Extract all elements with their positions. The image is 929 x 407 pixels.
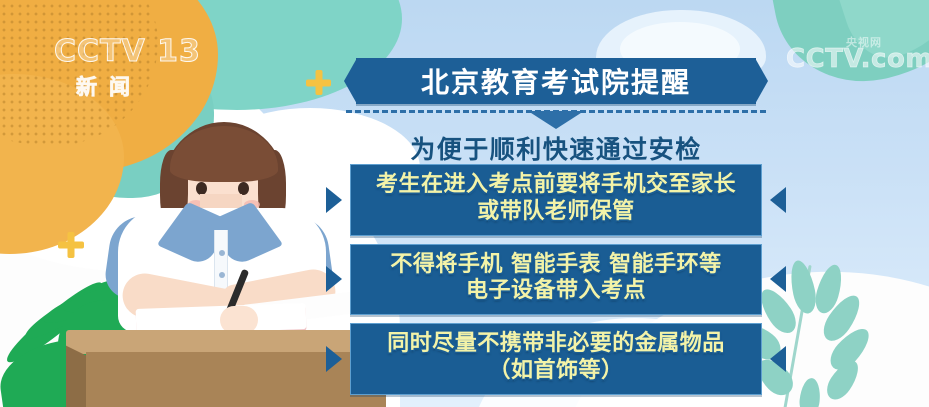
- arrow-right-icon: [326, 187, 342, 213]
- bullet-text-line: 电子设备带入考点: [361, 278, 751, 305]
- infographic-screenshot: CCTV 13 新闻 央视网 CCTV.com 北京教育考试院提醒 为便于顺利快…: [0, 0, 929, 407]
- arrow-right-icon: [326, 266, 342, 292]
- bullet-row: 同时尽量不携带非必要的金属物品 （如首饰等）: [326, 323, 786, 395]
- arrow-left-icon: [770, 346, 786, 372]
- notice-panel: 北京教育考试院提醒 为便于顺利快速通过安检 考生在进入考点前要将手机交至家长 或…: [316, 48, 796, 396]
- bullet-text-line: 不得将手机 智能手表 智能手环等: [361, 252, 751, 279]
- bullet-text-line: 同时尽量不携带非必要的金属物品: [361, 331, 751, 358]
- chevron-down-icon: [528, 111, 584, 129]
- shirt-button: [219, 250, 225, 256]
- arrow-left-icon: [770, 266, 786, 292]
- arrow-right-icon: [326, 346, 342, 372]
- shirt-placket: [214, 230, 228, 292]
- bullet-box: 考生在进入考点前要将手机交至家长 或带队老师保管: [350, 164, 762, 236]
- bullet-list: 考生在进入考点前要将手机交至家长 或带队老师保管 不得将手机 智能手表 智能手环…: [326, 164, 786, 403]
- title-banner: 北京教育考试院提醒: [356, 58, 756, 104]
- bullet-text-line: （如首饰等）: [361, 358, 751, 385]
- page-title: 北京教育考试院提醒: [421, 61, 691, 101]
- title-flag-right-icon: [755, 58, 768, 104]
- bullet-text-line: 或带队老师保管: [361, 199, 751, 226]
- bullet-box: 同时尽量不携带非必要的金属物品 （如首饰等）: [350, 323, 762, 395]
- page-subtitle: 为便于顺利快速通过安检: [316, 130, 796, 166]
- leaf-icon: [798, 377, 822, 407]
- plus-decoration-icon: [58, 232, 84, 258]
- bullet-box: 不得将手机 智能手表 智能手环等 电子设备带入考点: [350, 244, 762, 316]
- bullet-row: 考生在进入考点前要将手机交至家长 或带队老师保管: [326, 164, 786, 236]
- shirt-button: [219, 272, 225, 278]
- bullet-row: 不得将手机 智能手表 智能手环等 电子设备带入考点: [326, 244, 786, 316]
- arrow-left-icon: [770, 187, 786, 213]
- bullet-text-line: 考生在进入考点前要将手机交至家长: [361, 172, 751, 199]
